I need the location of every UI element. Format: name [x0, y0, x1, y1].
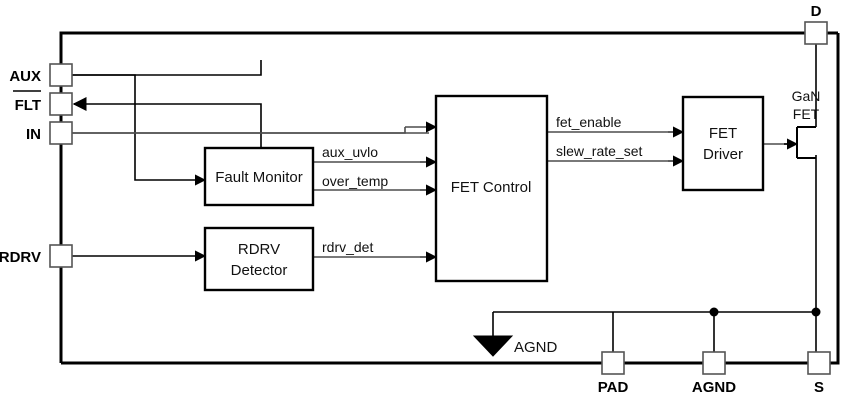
block-rdrv-detector[interactable]: RDRV Detector: [205, 228, 313, 290]
block-rdrv-detector-label-line2: Detector: [231, 262, 288, 279]
signal-label-over-temp: over_temp: [322, 173, 388, 189]
schematic-canvas: Fault Monitor RDRV Detector FET Control …: [0, 0, 850, 400]
pin-aux-label: AUX: [9, 68, 41, 85]
block-fault-monitor-label: Fault Monitor: [215, 169, 303, 186]
signal-label-aux-uvlo: aux_uvlo: [322, 144, 378, 160]
pin-agnd[interactable]: AGND: [692, 352, 736, 396]
block-fet-driver[interactable]: FET Driver: [683, 97, 763, 190]
gan-fet-label-line2: FET: [793, 106, 820, 122]
gan-fet-symbol: [797, 127, 816, 158]
pin-in[interactable]: IN: [26, 122, 72, 144]
block-fault-monitor[interactable]: Fault Monitor: [205, 148, 313, 205]
pin-d-label: D: [811, 3, 822, 20]
pin-pad-label: PAD: [598, 379, 629, 396]
junction-agnd-pin: [710, 308, 719, 317]
block-fet-driver-label-line1: FET: [709, 125, 737, 142]
signal-label-fet-enable: fet_enable: [556, 114, 622, 130]
pin-rdrv[interactable]: RDRV: [0, 245, 72, 267]
gan-fet-block-diagram: Fault Monitor RDRV Detector FET Control …: [0, 0, 850, 400]
pin-s-label: S: [814, 379, 824, 396]
pin-flt[interactable]: FLT: [13, 91, 72, 115]
block-fet-driver-label-line2: Driver: [703, 146, 743, 163]
pin-flt-label: FLT: [15, 97, 41, 114]
junction-source-bus: [812, 308, 821, 317]
signal-label-slew-rate-set: slew_rate_set: [556, 143, 642, 159]
wire-aux-to-fault-monitor: [72, 75, 198, 180]
gan-fet-label-line1: GaN: [792, 88, 821, 104]
agnd-ground-symbol: [474, 336, 512, 356]
pin-d[interactable]: D: [805, 3, 827, 44]
signal-label-rdrv-det: rdrv_det: [322, 239, 373, 255]
block-fet-control-label: FET Control: [451, 179, 532, 196]
block-rdrv-detector-label-line1: RDRV: [238, 241, 280, 258]
pin-s[interactable]: S: [808, 352, 830, 396]
pin-in-label: IN: [26, 126, 41, 143]
pin-aux[interactable]: AUX: [9, 64, 72, 86]
pin-agnd-label: AGND: [692, 379, 736, 396]
agnd-symbol-label: AGND: [514, 339, 558, 356]
pin-rdrv-label: RDRV: [0, 249, 41, 266]
block-fet-control[interactable]: FET Control: [436, 96, 547, 281]
pin-pad[interactable]: PAD: [598, 352, 629, 396]
